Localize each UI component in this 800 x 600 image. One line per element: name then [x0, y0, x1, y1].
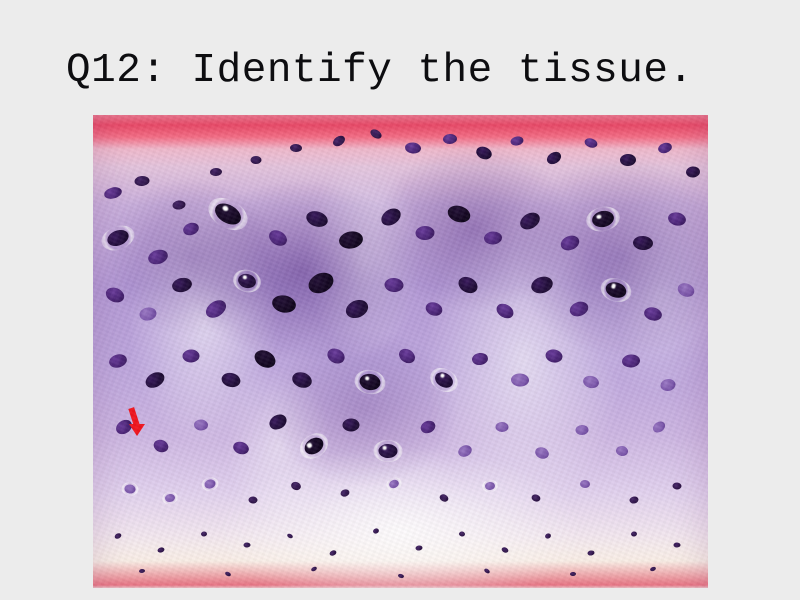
lacuna-highlight — [383, 446, 387, 450]
chondrocyte-nucleus — [494, 301, 516, 321]
lacuna-highlight — [307, 442, 313, 448]
chondrocyte-nucleus — [311, 566, 318, 572]
chondrocyte-nucleus — [510, 135, 525, 146]
chondrocyte-nucleus — [633, 235, 654, 250]
chondrocyte-nucleus — [533, 445, 550, 461]
chondrocyte-nucleus — [103, 285, 126, 305]
chondrocyte-nucleus — [388, 478, 400, 489]
chondrocyte-nucleus — [575, 424, 588, 434]
chondrocyte-nucleus — [544, 532, 552, 539]
chondrocyte-nucleus — [622, 354, 641, 369]
chondrocyte-nucleus — [404, 142, 421, 155]
film-grain-overlay — [93, 115, 708, 588]
chondrocyte-nucleus — [642, 305, 663, 322]
chondrocyte-nucleus — [134, 176, 150, 187]
chondrocyte-nucleus — [657, 141, 673, 155]
chondrocyte-nucleus — [651, 419, 667, 435]
chondrocyte-nucleus — [456, 274, 481, 297]
chondrocyte-nucleus — [139, 569, 145, 574]
chondrocyte-nucleus — [649, 566, 656, 572]
chondrocyte-nucleus — [325, 346, 347, 367]
chondrocyte-nucleus — [660, 378, 677, 392]
chondrocyte-nucleus — [378, 444, 397, 459]
chondrocyte-nucleus — [545, 149, 564, 166]
chondrocyte-nucleus — [266, 227, 289, 249]
chondrocyte-nucleus — [580, 480, 590, 489]
chondrocyte-nucleus — [305, 209, 330, 230]
chondrocyte-nucleus — [252, 346, 279, 370]
chondrocyte-nucleus — [511, 373, 530, 387]
chondrocyte-nucleus — [676, 281, 697, 300]
chondrocyte-nucleus — [472, 352, 489, 366]
chondrocyte-nucleus — [290, 481, 302, 492]
chondrocyte-nucleus — [570, 572, 576, 576]
chondrocyte-nucleus — [558, 233, 581, 253]
chondrocyte-nucleus — [685, 166, 700, 178]
chondrocyte-nucleus — [530, 493, 541, 503]
chondrocyte-nucleus — [584, 137, 599, 150]
chondrocyte-nucleus — [456, 443, 473, 459]
chondrocyte-nucleus — [157, 547, 165, 554]
cartilage-matrix-purple — [93, 115, 708, 588]
chondrocyte-nucleus — [384, 278, 404, 293]
chondrocyte-nucleus — [124, 484, 136, 494]
chondrocyte-nucleus — [484, 482, 495, 491]
vignette-overlay — [93, 115, 708, 588]
chondrocyte-nucleus — [203, 297, 230, 322]
chondrocyte-nucleus — [474, 144, 493, 161]
chondrocyte-nucleus — [604, 280, 628, 300]
chondrocyte-nucleus — [231, 440, 250, 456]
chondrocyte-nucleus — [171, 276, 194, 294]
chondrocyte-nucleus — [236, 271, 257, 289]
chondrocyte-nucleus — [673, 483, 682, 491]
histology-micrograph[interactable] — [93, 115, 708, 588]
chondrocyte-nucleus — [203, 478, 216, 489]
chondrocyte-nucleus — [340, 489, 351, 498]
chondrocyte-nucleus — [103, 185, 123, 200]
chondrocyte-nucleus — [517, 210, 543, 234]
chondrocyte-nucleus — [674, 543, 681, 548]
chondrocyte-nucleus — [113, 532, 122, 540]
chondrocyte-nucleus — [438, 493, 449, 503]
chondrocyte-nucleus — [358, 372, 382, 392]
chondrocyte-nucleus — [105, 227, 131, 249]
chondrocyte-nucleus — [164, 493, 175, 503]
chondrocyte-nucleus — [107, 352, 128, 369]
chondrocyte-nucleus — [615, 445, 628, 457]
chondrocyte-layer — [93, 115, 708, 588]
lacuna-highlight — [364, 376, 369, 381]
chondrocyte-nucleus — [225, 571, 232, 577]
chondrocyte-nucleus — [146, 247, 169, 266]
chondrocyte-nucleus — [200, 531, 206, 537]
chondrocyte-nucleus — [424, 300, 444, 318]
chondrocyte-nucleus — [567, 299, 590, 319]
chondrocyte-nucleus — [290, 144, 302, 153]
chondrocyte-nucleus — [250, 156, 261, 164]
arrow-head — [129, 424, 145, 436]
chondrocyte-nucleus — [483, 231, 502, 245]
chondrocyte-nucleus — [495, 422, 508, 432]
chondrocyte-nucleus — [183, 349, 200, 363]
chondrocyte-nucleus — [582, 375, 600, 390]
chondrocyte-nucleus — [591, 209, 616, 229]
presentation-slide: Q12: Identify the tissue. — [0, 0, 800, 600]
chondrocyte-nucleus — [338, 230, 364, 251]
chondrocyte-nucleus — [142, 369, 166, 391]
lacuna-highlight — [222, 205, 230, 212]
chondrocyte-nucleus — [369, 127, 383, 140]
chondrocyte-nucleus — [415, 226, 434, 241]
chondrocyte-nucleus — [529, 274, 555, 296]
lacuna-highlight — [596, 214, 602, 219]
page-title: Q12: Identify the tissue. — [66, 44, 746, 98]
chondrocyte-nucleus — [290, 370, 314, 391]
chondrocyte-nucleus — [378, 205, 404, 229]
lacuna-highlight — [242, 275, 247, 280]
lacuna-highlight — [439, 373, 445, 378]
lacuna-highlight — [610, 283, 616, 288]
chondrocyte-nucleus — [210, 167, 222, 176]
chondrocyte-nucleus — [631, 531, 637, 537]
chondrocyte-nucleus — [620, 154, 636, 166]
chondrocyte-nucleus — [483, 568, 490, 575]
chondrocyte-nucleus — [372, 528, 380, 535]
chondrocyte-nucleus — [331, 134, 347, 149]
chondrocyte-nucleus — [193, 419, 208, 431]
chondrocyte-nucleus — [442, 133, 457, 144]
red-arrow-marker — [126, 407, 152, 437]
chondrocyte-nucleus — [221, 371, 243, 389]
chondrocyte-nucleus — [667, 211, 687, 227]
cartilage-matrix-streaks — [93, 115, 708, 588]
chondrocyte-nucleus — [182, 220, 201, 237]
chondrocyte-nucleus — [248, 497, 257, 505]
chondrocyte-nucleus — [419, 419, 437, 436]
chondrocyte-nucleus — [396, 346, 417, 366]
chondrocyte-nucleus — [329, 549, 337, 556]
chondrocyte-nucleus — [459, 531, 466, 537]
chondrocyte-nucleus — [212, 200, 245, 230]
chondrocyte-nucleus — [286, 533, 293, 539]
chondrocyte-nucleus — [545, 348, 564, 364]
chondrocyte-nucleus — [172, 199, 186, 210]
chondrocyte-nucleus — [446, 203, 473, 225]
chondrocyte-nucleus — [415, 545, 423, 551]
chondrocyte-nucleus — [266, 412, 289, 433]
chondrocyte-nucleus — [432, 369, 455, 391]
chondrocyte-nucleus — [343, 418, 360, 431]
chondrocyte-nucleus — [243, 543, 250, 548]
chondrocyte-nucleus — [139, 306, 158, 322]
chondrocyte-nucleus — [501, 546, 509, 554]
chondrocyte-nucleus — [629, 496, 639, 505]
chondrocyte-nucleus — [151, 438, 169, 455]
chondrocyte-nucleus — [302, 434, 327, 457]
chondrocyte-nucleus — [344, 297, 372, 322]
chondrocyte-nucleus — [397, 573, 404, 579]
chondrocyte-nucleus — [270, 293, 297, 315]
chondrocyte-nucleus — [305, 269, 337, 297]
cartilage-matrix-base — [93, 115, 708, 588]
chondrocyte-nucleus — [587, 549, 595, 555]
